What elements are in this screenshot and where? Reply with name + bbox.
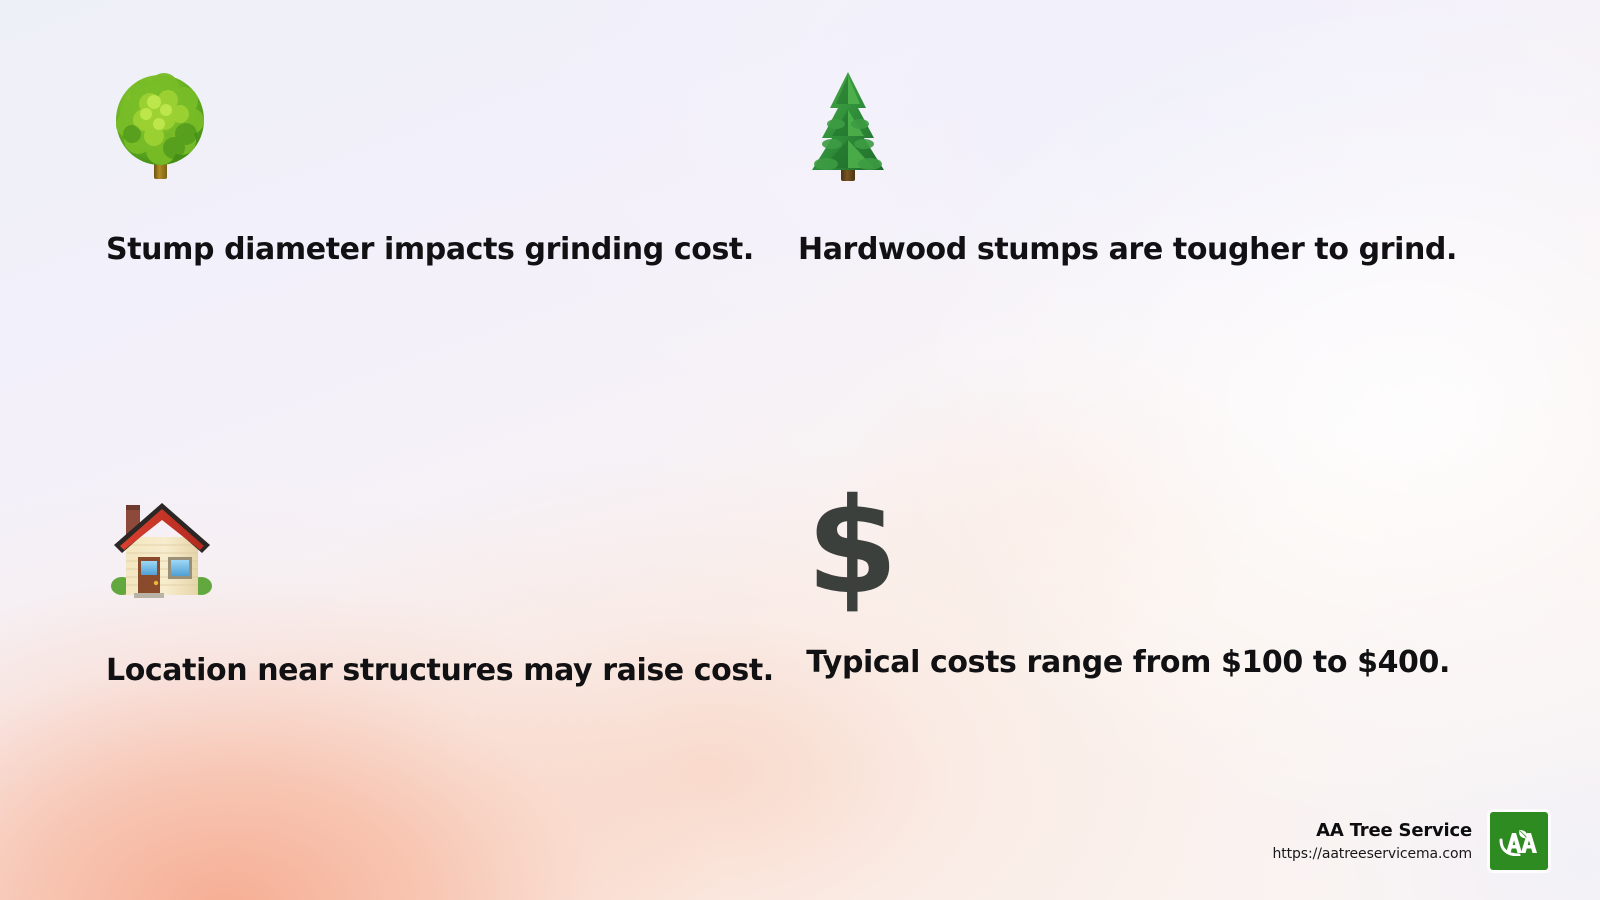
card-spacer [806, 599, 1450, 645]
card-spacer [106, 186, 754, 232]
info-card-hardwood-stumps: Hardwood stumps are tougher to grind. [798, 68, 1457, 267]
info-card-text: Hardwood stumps are tougher to grind. [798, 232, 1457, 267]
dollar-glyph: $ [806, 481, 1450, 599]
deciduous-tree-icon [106, 68, 754, 186]
info-card-text: Typical costs range from $100 to $400. [806, 645, 1450, 680]
brand-url[interactable]: https://aatreeservicema.com [1272, 846, 1472, 862]
footer-branding: AA Tree Service https://aatreeservicema.… [1272, 812, 1548, 870]
dollar-sign-icon: $ [806, 481, 1450, 599]
house-icon [106, 489, 774, 607]
info-card-text: Stump diameter impacts grinding cost. [106, 232, 754, 267]
footer-text-block: AA Tree Service https://aatreeservicema.… [1272, 820, 1472, 862]
info-card-location-structures: Location near structures may raise cost. [106, 489, 774, 688]
brand-name: AA Tree Service [1316, 820, 1472, 841]
info-card-typical-costs: $ Typical costs range from $100 to $400. [806, 489, 1450, 680]
aa-tree-service-logo[interactable] [1490, 812, 1548, 870]
card-spacer [106, 607, 774, 653]
info-card-text: Location near structures may raise cost. [106, 653, 774, 688]
evergreen-tree-icon [798, 68, 1457, 186]
info-card-stump-diameter: Stump diameter impacts grinding cost. [106, 68, 754, 267]
card-spacer [798, 186, 1457, 232]
content-area: Stump diameter impacts grinding cost. [0, 0, 1600, 900]
